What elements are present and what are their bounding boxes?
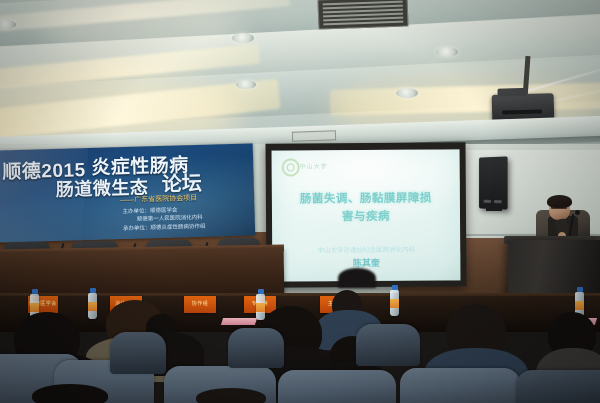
auditorium-chair	[278, 370, 396, 403]
event-banner: 顺德2015 炎症性肠病 肠道微生态 论坛 ——广东省医院协会项目 主办单位：顺…	[0, 143, 255, 242]
audience-head	[32, 384, 108, 403]
silhouette-head	[338, 268, 376, 288]
slide-presenter-name: 陈其奎	[272, 255, 460, 269]
auditorium-chair	[356, 324, 420, 366]
auditorium-chair	[516, 370, 600, 403]
eyeglasses-icon	[562, 338, 584, 341]
microphone-head-icon	[575, 210, 580, 215]
downlight-icon	[232, 33, 254, 43]
auditorium-chair	[400, 368, 520, 403]
audience-head	[196, 388, 266, 403]
conference-hall-photo: 顺德2015 炎症性肠病 肠道微生态 论坛 ——广东省医院协会项目 主办单位：顺…	[0, 0, 600, 403]
downlight-icon	[396, 88, 418, 98]
emergency-light-icon	[292, 130, 336, 142]
slide-affiliation: 中山大学孙逸仙纪念医院消化内科	[272, 243, 460, 254]
university-logo-icon	[282, 158, 300, 176]
wall-loudspeaker	[479, 156, 508, 209]
audience-area	[0, 288, 600, 403]
slide-logo-text: 中山大学	[300, 161, 328, 170]
downlight-icon	[236, 80, 256, 89]
speaker-bracket	[486, 206, 502, 211]
slide-title-line-1: 肠菌失调、肠黏膜屏障损	[272, 189, 460, 206]
auditorium-chair	[228, 328, 284, 368]
presenter-glasses-icon	[551, 206, 567, 209]
auditorium-chair	[110, 332, 166, 374]
slide-title-line-2: 害与疾病	[272, 207, 460, 224]
projection-screen: 中山大学 肠菌失调、肠黏膜屏障损 害与疾病 中山大学孙逸仙纪念医院消化内科 陈其…	[272, 149, 461, 281]
air-vent-icon	[318, 0, 409, 30]
downlight-icon	[436, 47, 458, 57]
banner-prefix: 顺德	[2, 161, 42, 183]
